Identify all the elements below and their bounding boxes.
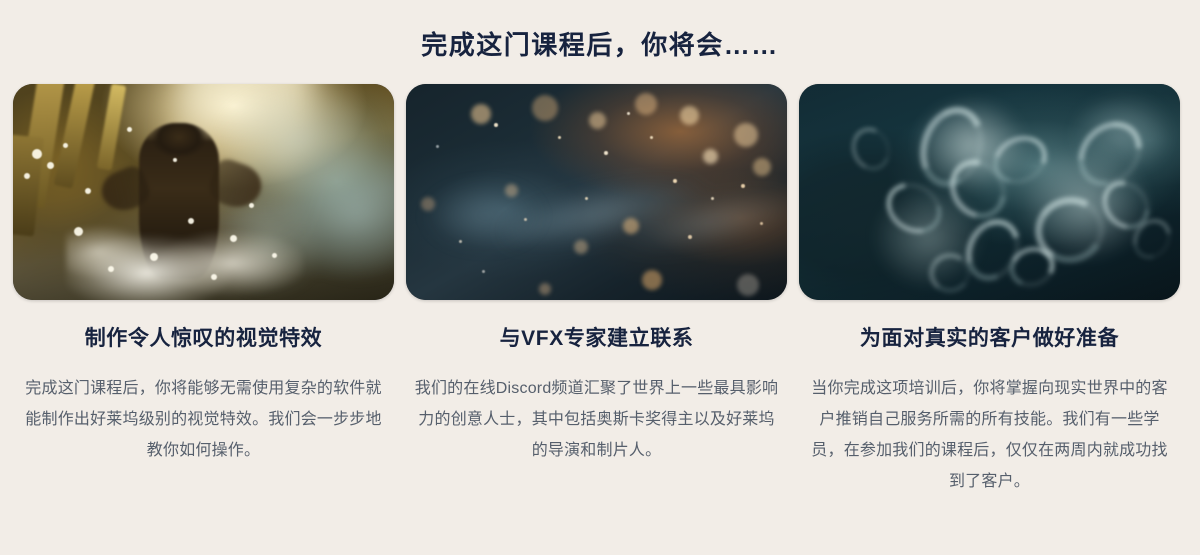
benefit-cards-row: 制作令人惊叹的视觉特效 完成这门课程后，你将能够无需使用复杂的软件就能制作出好莱… xyxy=(0,84,1200,497)
benefit-card-1: 制作令人惊叹的视觉特效 完成这门课程后，你将能够无需使用复杂的软件就能制作出好莱… xyxy=(13,84,394,466)
spark-particle xyxy=(494,123,498,127)
spark-particle xyxy=(585,197,588,200)
spark-particle xyxy=(741,184,745,188)
spark-particle xyxy=(436,145,439,148)
teal-smoke-image xyxy=(799,84,1180,300)
bokeh-particle xyxy=(680,106,699,125)
bokeh-particle xyxy=(471,104,491,124)
spark-particle xyxy=(711,197,714,200)
spark-particle xyxy=(627,112,630,115)
water-droplet xyxy=(272,253,277,258)
spark-particle xyxy=(673,179,677,183)
bokeh-particle xyxy=(753,158,771,176)
water-droplet xyxy=(32,149,42,159)
water-splash-decoration xyxy=(66,214,302,300)
bokeh-particle xyxy=(635,93,657,115)
water-droplet xyxy=(63,143,68,148)
spark-particle xyxy=(650,136,653,139)
benefit-card-3-body: 当你完成这项培训后，你将掌握向现实世界中的客户推销自己服务所需的所有技能。我们有… xyxy=(799,373,1180,497)
nebula-sparks-image xyxy=(406,84,787,300)
water-droplet xyxy=(74,227,83,236)
benefit-card-2-body: 我们的在线Discord频道汇聚了世界上一些最具影响力的创意人士，其中包括奥斯卡… xyxy=(406,373,787,466)
bokeh-particle xyxy=(734,123,758,147)
bokeh-particle xyxy=(421,197,435,211)
benefit-card-1-body: 完成这门课程后，你将能够无需使用复杂的软件就能制作出好莱坞级别的视觉特效。我们会… xyxy=(13,373,394,466)
water-droplet xyxy=(85,188,91,194)
benefit-card-2-thumbnail[interactable] xyxy=(406,84,787,300)
bokeh-particle xyxy=(505,184,518,197)
bokeh-particle xyxy=(737,274,759,296)
benefit-card-2: 与VFX专家建立联系 我们的在线Discord频道汇聚了世界上一些最具影响力的创… xyxy=(406,84,787,466)
pillar-decoration xyxy=(97,84,127,171)
bokeh-particle xyxy=(532,95,558,121)
water-droplet xyxy=(150,253,158,261)
wisp-decoration xyxy=(414,149,589,283)
benefit-card-1-title: 制作令人惊叹的视觉特效 xyxy=(13,326,394,352)
water-droplet xyxy=(173,158,177,162)
water-droplet xyxy=(47,162,54,169)
section-heading: 完成这门课程后，你将会…… xyxy=(0,0,1200,61)
bokeh-particle xyxy=(574,240,588,254)
water-droplet xyxy=(127,127,132,132)
spark-particle xyxy=(558,136,561,139)
benefit-card-3-thumbnail[interactable] xyxy=(799,84,1180,300)
water-droplet xyxy=(108,266,114,272)
benefit-card-3-title: 为面对真实的客户做好准备 xyxy=(799,326,1180,352)
runner-in-water-image xyxy=(13,84,394,300)
bokeh-particle xyxy=(589,112,606,129)
benefit-card-2-title: 与VFX专家建立联系 xyxy=(406,326,787,352)
course-benefits-section: 完成这门课程后，你将会…… xyxy=(0,0,1200,555)
spark-particle xyxy=(604,151,608,155)
benefit-card-3: 为面对真实的客户做好准备 当你完成这项培训后，你将掌握向现实世界中的客户推销自己… xyxy=(799,84,1180,497)
smoke-curl xyxy=(845,122,897,177)
benefit-card-1-thumbnail[interactable] xyxy=(13,84,394,300)
